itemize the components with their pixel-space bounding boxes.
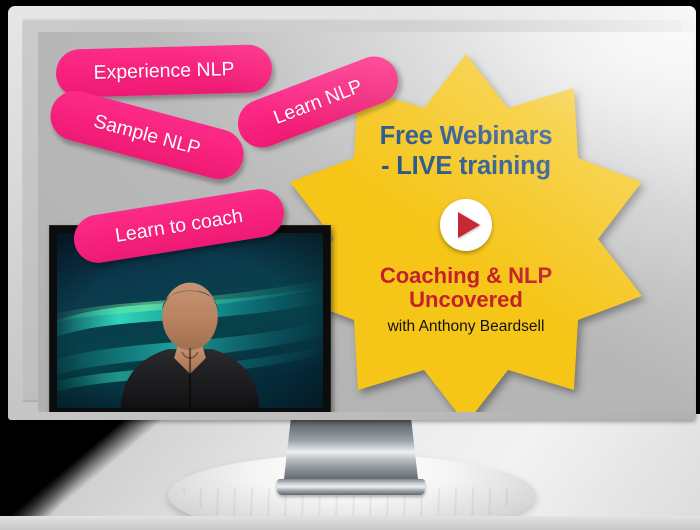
badge-label: Learn to coach — [113, 205, 244, 248]
presenter-name: with Anthony Beardsell — [388, 318, 545, 336]
course-title-line-2: Uncovered — [341, 288, 591, 313]
screenshot-stage: Free Webinars - LIVE training Coaching &… — [0, 0, 700, 530]
headline-line-1: Free Webinars — [331, 122, 601, 152]
badge-experience-nlp[interactable]: Experience NLP — [55, 44, 272, 98]
play-icon — [458, 212, 480, 238]
monitor-stand-foot — [277, 479, 425, 495]
monitor-outer-bezel: Free Webinars - LIVE training Coaching &… — [8, 6, 696, 420]
badge-label: Sample NLP — [91, 110, 203, 161]
badge-label: Experience NLP — [93, 58, 234, 85]
badge-sample-nlp[interactable]: Sample NLP — [45, 85, 249, 185]
course-title-line-1: Coaching & NLP — [341, 264, 591, 289]
play-button[interactable] — [440, 199, 492, 251]
monitor-inner-bezel: Free Webinars - LIVE training Coaching &… — [22, 18, 682, 402]
floor-shadow — [0, 408, 170, 530]
course-title: Coaching & NLP Uncovered — [341, 264, 591, 313]
bottom-edge — [0, 516, 700, 530]
webinar-headline: Free Webinars - LIVE training — [331, 122, 601, 182]
headline-line-2: - LIVE training — [331, 152, 601, 182]
monitor-screen: Free Webinars - LIVE training Coaching &… — [38, 32, 694, 412]
monitor-stand-neck — [283, 416, 419, 488]
